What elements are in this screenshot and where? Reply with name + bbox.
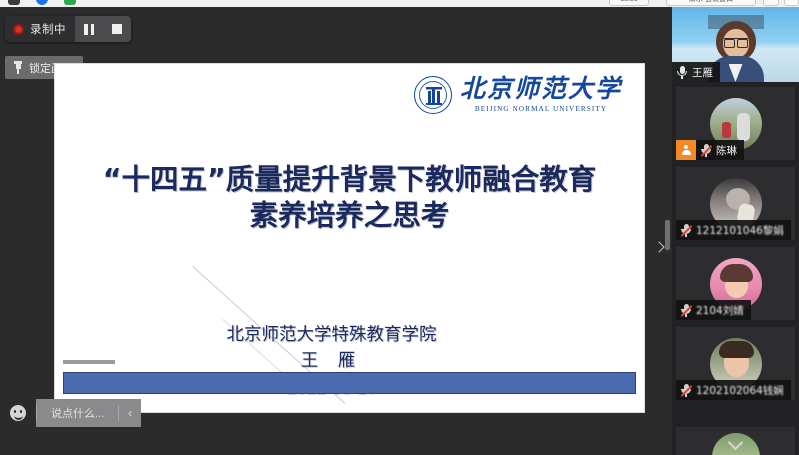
smiley-icon (10, 405, 26, 421)
panel-resize-handle[interactable] (658, 7, 672, 455)
recording-status: 录制中 (5, 16, 75, 42)
participant-tile[interactable]: 2104刘婧 (676, 247, 795, 320)
participant-name: 1212101046黎娟 (696, 223, 784, 238)
mic-on-icon (672, 62, 692, 82)
recording-buttons (75, 16, 131, 42)
stop-icon (112, 24, 122, 34)
participant-tile[interactable]: 王雁 (672, 7, 799, 82)
pin-icon (13, 61, 23, 74)
mic-off-icon (676, 300, 696, 320)
chat-composer: 说点什么... ‹ (0, 399, 141, 427)
participant-badge: 2104刘婧 (676, 300, 751, 320)
chevron-left-icon[interactable]: ‹ (119, 399, 141, 427)
participant-name: 王雁 (692, 65, 713, 80)
mic-off-icon (676, 380, 696, 400)
mic-off-icon (696, 140, 716, 160)
slide-title-line-1: “十四五”质量提升背景下教师融合教育 (63, 162, 636, 198)
participant-name: 陈琳 (716, 143, 737, 158)
pause-icon (84, 24, 94, 35)
chevron-right-icon[interactable] (653, 241, 664, 252)
close-icon[interactable] (784, 0, 799, 6)
drag-handle-icon[interactable] (665, 220, 670, 250)
chat-input-placeholder: 说点什么... (37, 405, 118, 421)
window-chip[interactable]: 演示·会议窗口 (666, 0, 756, 6)
app-icon-blue[interactable] (36, 0, 48, 5)
window-chrome-strip: 13:50 演示·会议窗口 (0, 0, 799, 7)
slide-selection-marker (63, 360, 115, 364)
participant-tile-partial[interactable] (676, 427, 795, 455)
slide-presenter: 王 雁 (55, 348, 608, 374)
slide-accent-bar (63, 372, 636, 394)
chat-input[interactable]: 说点什么... ‹ (36, 399, 141, 427)
stop-recording-button[interactable] (103, 16, 131, 42)
bnu-logo-text: 北京师范大学 BEIJING NORMAL UNIVERSITY (460, 77, 622, 113)
host-icon (676, 140, 696, 160)
meeting-screen-share-window: 13:50 演示·会议窗口 录制中 (0, 0, 799, 455)
slide-title: “十四五”质量提升背景下教师融合教育 素养培养之思考 (63, 162, 636, 235)
participant-badge: 陈琳 (676, 140, 744, 160)
shared-slide[interactable]: 北京师范大学 BEIJING NORMAL UNIVERSITY “十四五”质量… (55, 64, 644, 412)
bnu-seal-icon (414, 76, 452, 114)
bnu-logo-chinese: 北京师范大学 (460, 77, 622, 102)
recording-control-bar: 录制中 (5, 16, 131, 42)
participant-tile[interactable]: 1202102064钱娴 (676, 327, 795, 400)
participant-badge: 1202102064钱娴 (676, 380, 791, 400)
bnu-logo-english: BEIJING NORMAL UNIVERSITY (475, 105, 607, 113)
shared-screen-stage: 录制中 锁定画面 北京师范大学 (0, 7, 672, 455)
mic-off-icon (676, 220, 696, 240)
participants-rail[interactable]: 王雁 陈琳 1212101046黎娟 (672, 7, 799, 455)
participant-tile[interactable]: 陈琳 (676, 87, 795, 160)
pause-recording-button[interactable] (75, 16, 103, 42)
slide-organization: 北京师范大学特殊教育学院 (55, 322, 608, 348)
participant-badge: 王雁 (672, 62, 720, 82)
recording-label: 录制中 (30, 21, 66, 37)
fullscreen-icon[interactable] (763, 0, 779, 6)
participant-name: 2104刘婧 (696, 303, 744, 318)
clock-chip: 13:50 (609, 0, 649, 6)
app-icon-green[interactable] (64, 0, 76, 5)
participant-name: 1202102064钱娴 (696, 383, 784, 398)
slide-title-line-2: 素养培养之思考 (63, 198, 636, 234)
participant-tile[interactable]: 1212101046黎娟 (676, 167, 795, 240)
recording-dot-icon (13, 24, 24, 35)
bnu-logo: 北京师范大学 BEIJING NORMAL UNIVERSITY (414, 76, 622, 114)
app-icon-dark[interactable] (8, 0, 20, 5)
participant-badge: 1212101046黎娟 (676, 220, 791, 240)
emoji-button[interactable] (0, 399, 36, 427)
